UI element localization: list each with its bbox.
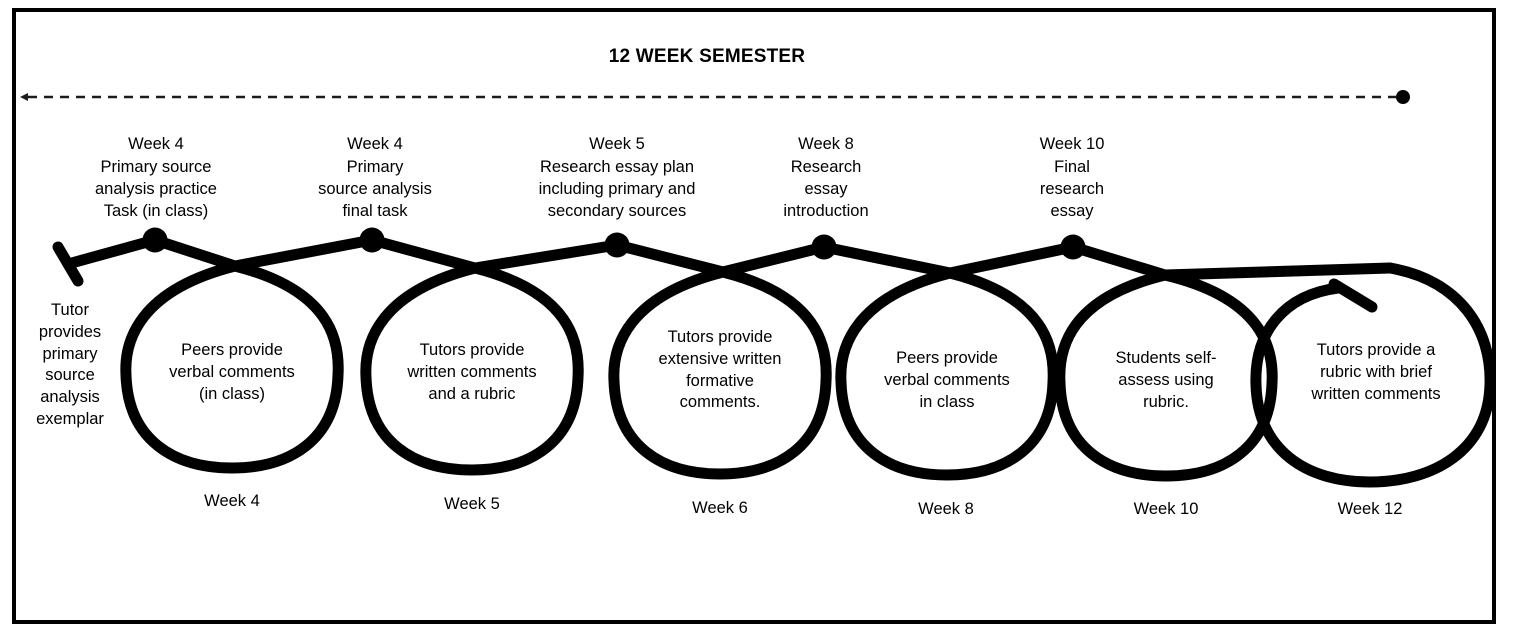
segment-start-to-m1 [68,240,155,264]
timeline-end-dot [1396,90,1410,104]
loop-1-path [126,240,372,468]
milestone-dot-2[interactable] [360,228,385,253]
diagram-canvas: 12 WEEK SEMESTER Tutor provides primary … [0,0,1514,644]
loop-4-path [824,247,1073,475]
loop-2-path [366,240,617,470]
feedback-loop-artwork [0,0,1514,644]
pathway-end-tick [1334,284,1372,307]
loop-3-path [614,245,826,474]
loop-5-path [1060,247,1390,476]
milestone-dot-1[interactable] [143,228,168,253]
milestone-dot-3[interactable] [605,233,630,258]
feedback-pathway [58,240,1490,482]
milestone-dot-5[interactable] [1061,235,1086,260]
milestone-dot-4[interactable] [812,235,837,260]
loop-6-path [1256,268,1490,482]
semester-timeline-axis [28,90,1410,104]
